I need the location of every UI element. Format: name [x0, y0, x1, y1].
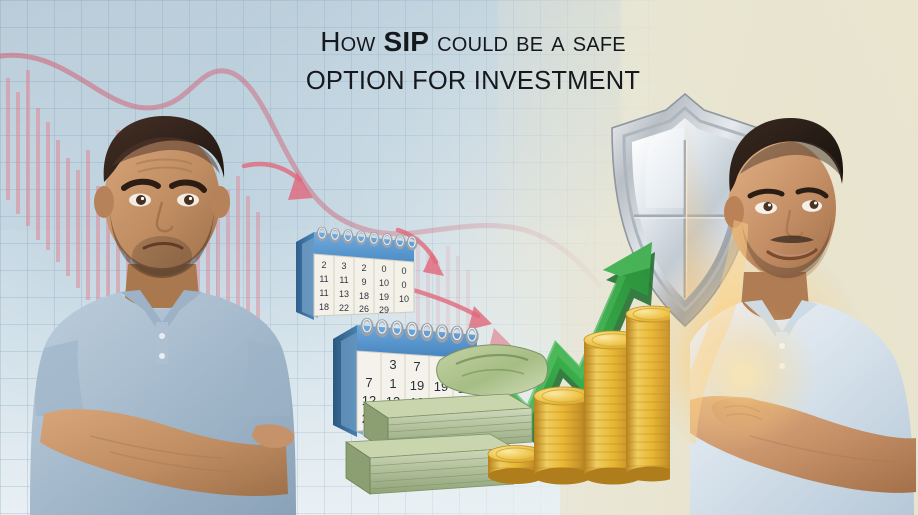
worried-man — [0, 96, 310, 515]
svg-text:0: 0 — [401, 280, 406, 290]
svg-text:11: 11 — [319, 288, 328, 298]
svg-text:13: 13 — [339, 289, 349, 299]
gold-coin-stacks — [480, 292, 670, 492]
svg-text:0: 0 — [401, 266, 406, 276]
headline: How SIP could be a safe OPTION FOR INVES… — [258, 26, 688, 97]
svg-text:9: 9 — [361, 277, 366, 287]
svg-text:18: 18 — [359, 291, 369, 301]
headline-line-1: How SIP could be a safe — [258, 26, 688, 58]
headline-line-1-post: could be a safe — [429, 26, 626, 57]
coin-stack-2 — [534, 387, 592, 485]
headline-line-1-pre: How — [320, 26, 383, 57]
svg-text:11: 11 — [319, 274, 328, 284]
svg-text:0: 0 — [381, 264, 386, 274]
svg-text:2: 2 — [321, 260, 326, 270]
confident-man — [690, 100, 918, 515]
svg-text:10: 10 — [399, 294, 409, 304]
svg-text:10: 10 — [379, 278, 389, 288]
shield-highlight — [645, 128, 684, 208]
svg-text:11: 11 — [339, 275, 348, 285]
coin-stack-4 — [626, 306, 670, 482]
svg-text:19: 19 — [379, 292, 389, 302]
svg-text:3: 3 — [341, 261, 346, 271]
svg-text:2: 2 — [361, 263, 366, 273]
headline-sip: SIP — [383, 26, 429, 57]
promotional-banner: How SIP could be a safe OPTION FOR INVES… — [0, 0, 918, 515]
